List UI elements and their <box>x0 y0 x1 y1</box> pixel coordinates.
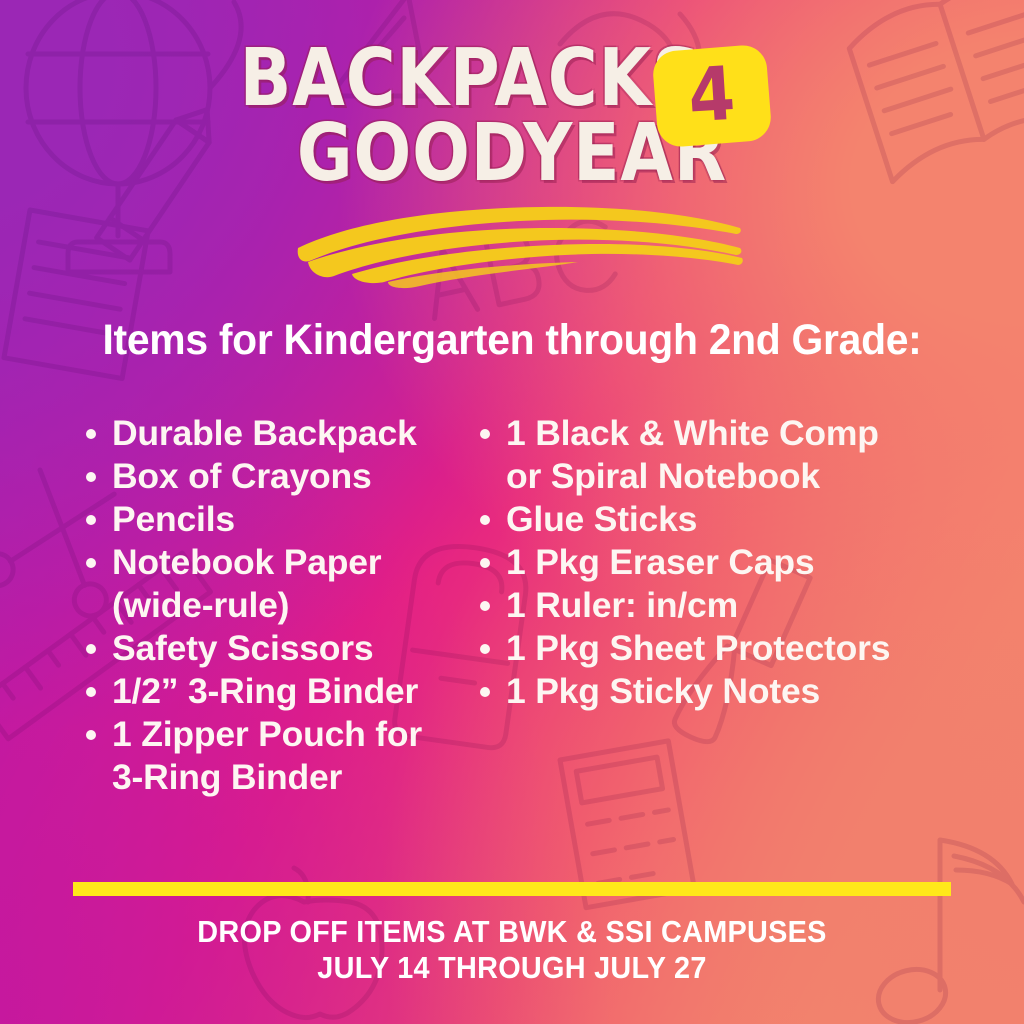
logo-line-goodyear: GOODYEAR <box>72 117 953 190</box>
supply-items-left: Durable Backpack Box of Crayons Pencils … <box>82 412 468 799</box>
footer-divider-bar <box>73 882 951 896</box>
poster-flyer: BACKPACKS GOODYEAR 4 Items for Kindergar… <box>0 0 1024 1024</box>
footer-line-2: JULY 14 THROUGH JULY 27 <box>36 950 988 986</box>
list-item: 1 Pkg Eraser Caps <box>476 541 1024 584</box>
list-item: 1 Zipper Pouch for 3-Ring Binder <box>82 713 468 799</box>
list-item: 1 Pkg Sheet Protectors <box>476 627 1024 670</box>
logo-block: BACKPACKS GOODYEAR <box>0 42 1024 189</box>
supply-list: Durable Backpack Box of Crayons Pencils … <box>0 412 1024 799</box>
list-item: Glue Sticks <box>476 498 1024 541</box>
badge-four: 4 <box>651 44 772 149</box>
list-item: Durable Backpack <box>82 412 468 455</box>
list-item: Box of Crayons <box>82 455 468 498</box>
footer-line-1: DROP OFF ITEMS AT BWK & SSI CAMPUSES <box>36 914 988 950</box>
list-item: Notebook Paper (wide-rule) <box>82 541 468 627</box>
footer-dropoff-info: DROP OFF ITEMS AT BWK & SSI CAMPUSES JUL… <box>36 914 988 986</box>
supply-list-column-right: 1 Black & White Comp or Spiral Notebook … <box>468 412 1024 713</box>
badge-four-label: 4 <box>686 56 737 133</box>
list-item: Safety Scissors <box>82 627 468 670</box>
page-title: Items for Kindergarten through 2nd Grade… <box>26 316 999 365</box>
list-item: 1 Pkg Sticky Notes <box>476 670 1024 713</box>
list-item: 1 Ruler: in/cm <box>476 584 1024 627</box>
yellow-brush-stroke-icon <box>292 198 744 290</box>
list-item: 1/2” 3-Ring Binder <box>82 670 468 713</box>
logo-line-backpacks: BACKPACKS <box>72 42 953 115</box>
doodle-abc-letters <box>421 215 618 323</box>
list-item: Pencils <box>82 498 468 541</box>
list-item: 1 Black & White Comp or Spiral Notebook <box>476 412 1024 498</box>
supply-items-right: 1 Black & White Comp or Spiral Notebook … <box>476 412 1024 713</box>
supply-list-column-left: Durable Backpack Box of Crayons Pencils … <box>0 412 468 799</box>
